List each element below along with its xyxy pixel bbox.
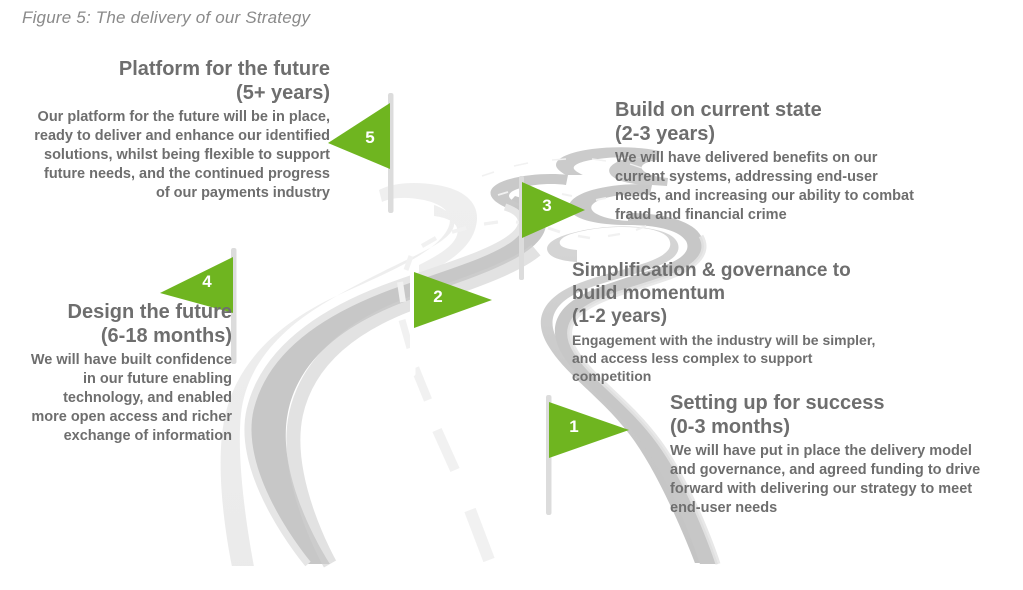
- milestone-body-1: We will have put in place the delivery m…: [670, 442, 982, 519]
- milestone-title-5: Platform for the future: [30, 57, 330, 81]
- milestone-period-1: (0-3 months): [670, 415, 982, 439]
- figure-root: Figure 5: The delivery of our Strategy: [0, 0, 1023, 585]
- flag-marker-1[interactable]: 1: [537, 390, 642, 520]
- milestone-period-4: (6-18 months): [30, 324, 232, 348]
- milestone-title-4: Design the future: [30, 300, 232, 324]
- milestone-body-2: Engagement with the industry will be sim…: [572, 331, 892, 386]
- milestone-period-5: (5+ years): [30, 81, 330, 105]
- flag-banner-1: [549, 402, 629, 458]
- milestone-block-4: Design the future (6-18 months) We will …: [30, 300, 232, 446]
- flag-number-1: 1: [562, 417, 586, 437]
- milestone-title-3: Build on current state: [615, 98, 925, 122]
- milestone-body-4: We will have built confidence in our fut…: [30, 351, 232, 447]
- milestone-block-5: Platform for the future (5+ years) Our p…: [30, 57, 330, 203]
- milestone-period-2: (1-2 years): [572, 305, 892, 328]
- milestone-title-2: Simplification & governance to build mom…: [572, 259, 892, 305]
- milestone-body-3: We will have delivered benefits on our c…: [615, 149, 925, 226]
- milestone-block-1: Setting up for success (0-3 months) We w…: [670, 391, 982, 518]
- milestone-block-2: Simplification & governance to build mom…: [572, 259, 892, 386]
- flag-number-5: 5: [358, 128, 382, 148]
- milestone-period-3: (2-3 years): [615, 122, 925, 146]
- flag-marker-2[interactable]: 2: [404, 262, 504, 382]
- milestone-title-1: Setting up for success: [670, 391, 982, 415]
- flag-number-3: 3: [535, 196, 559, 216]
- flag-number-2: 2: [426, 287, 450, 307]
- flag-number-4: 4: [195, 272, 219, 292]
- milestone-block-3: Build on current state (2-3 years) We wi…: [615, 98, 925, 225]
- milestone-body-5: Our platform for the future will be in p…: [30, 108, 330, 204]
